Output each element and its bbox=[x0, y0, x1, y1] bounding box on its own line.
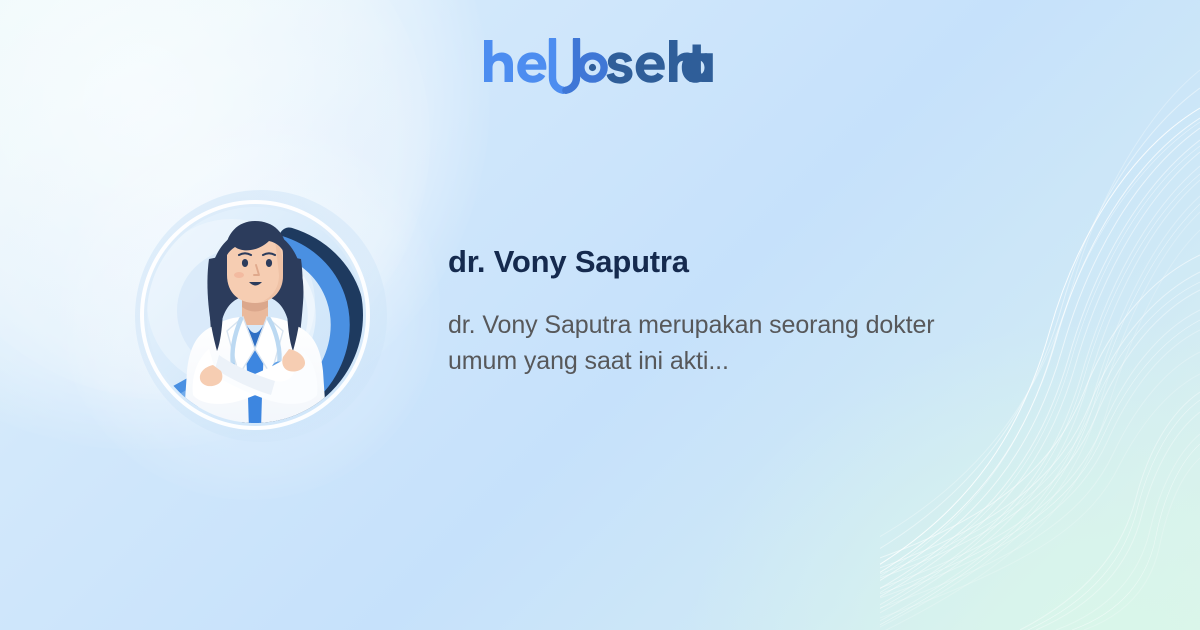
hellosehat-logo-mark[interactable] bbox=[480, 38, 720, 94]
profile-description: dr. Vony Saputra merupakan seorang dokte… bbox=[448, 308, 1008, 379]
share-card-canvas: dr. Vony Saputra dr. Vony Saputra merupa… bbox=[0, 0, 1200, 630]
profile-text-block: dr. Vony Saputra dr. Vony Saputra merupa… bbox=[448, 243, 1008, 379]
brand-logo[interactable] bbox=[0, 38, 1200, 94]
avatar bbox=[139, 199, 371, 431]
page-title: dr. Vony Saputra bbox=[448, 243, 1008, 280]
stethoscope-icon bbox=[553, 40, 605, 91]
doctor-illustration-icon bbox=[139, 199, 371, 431]
